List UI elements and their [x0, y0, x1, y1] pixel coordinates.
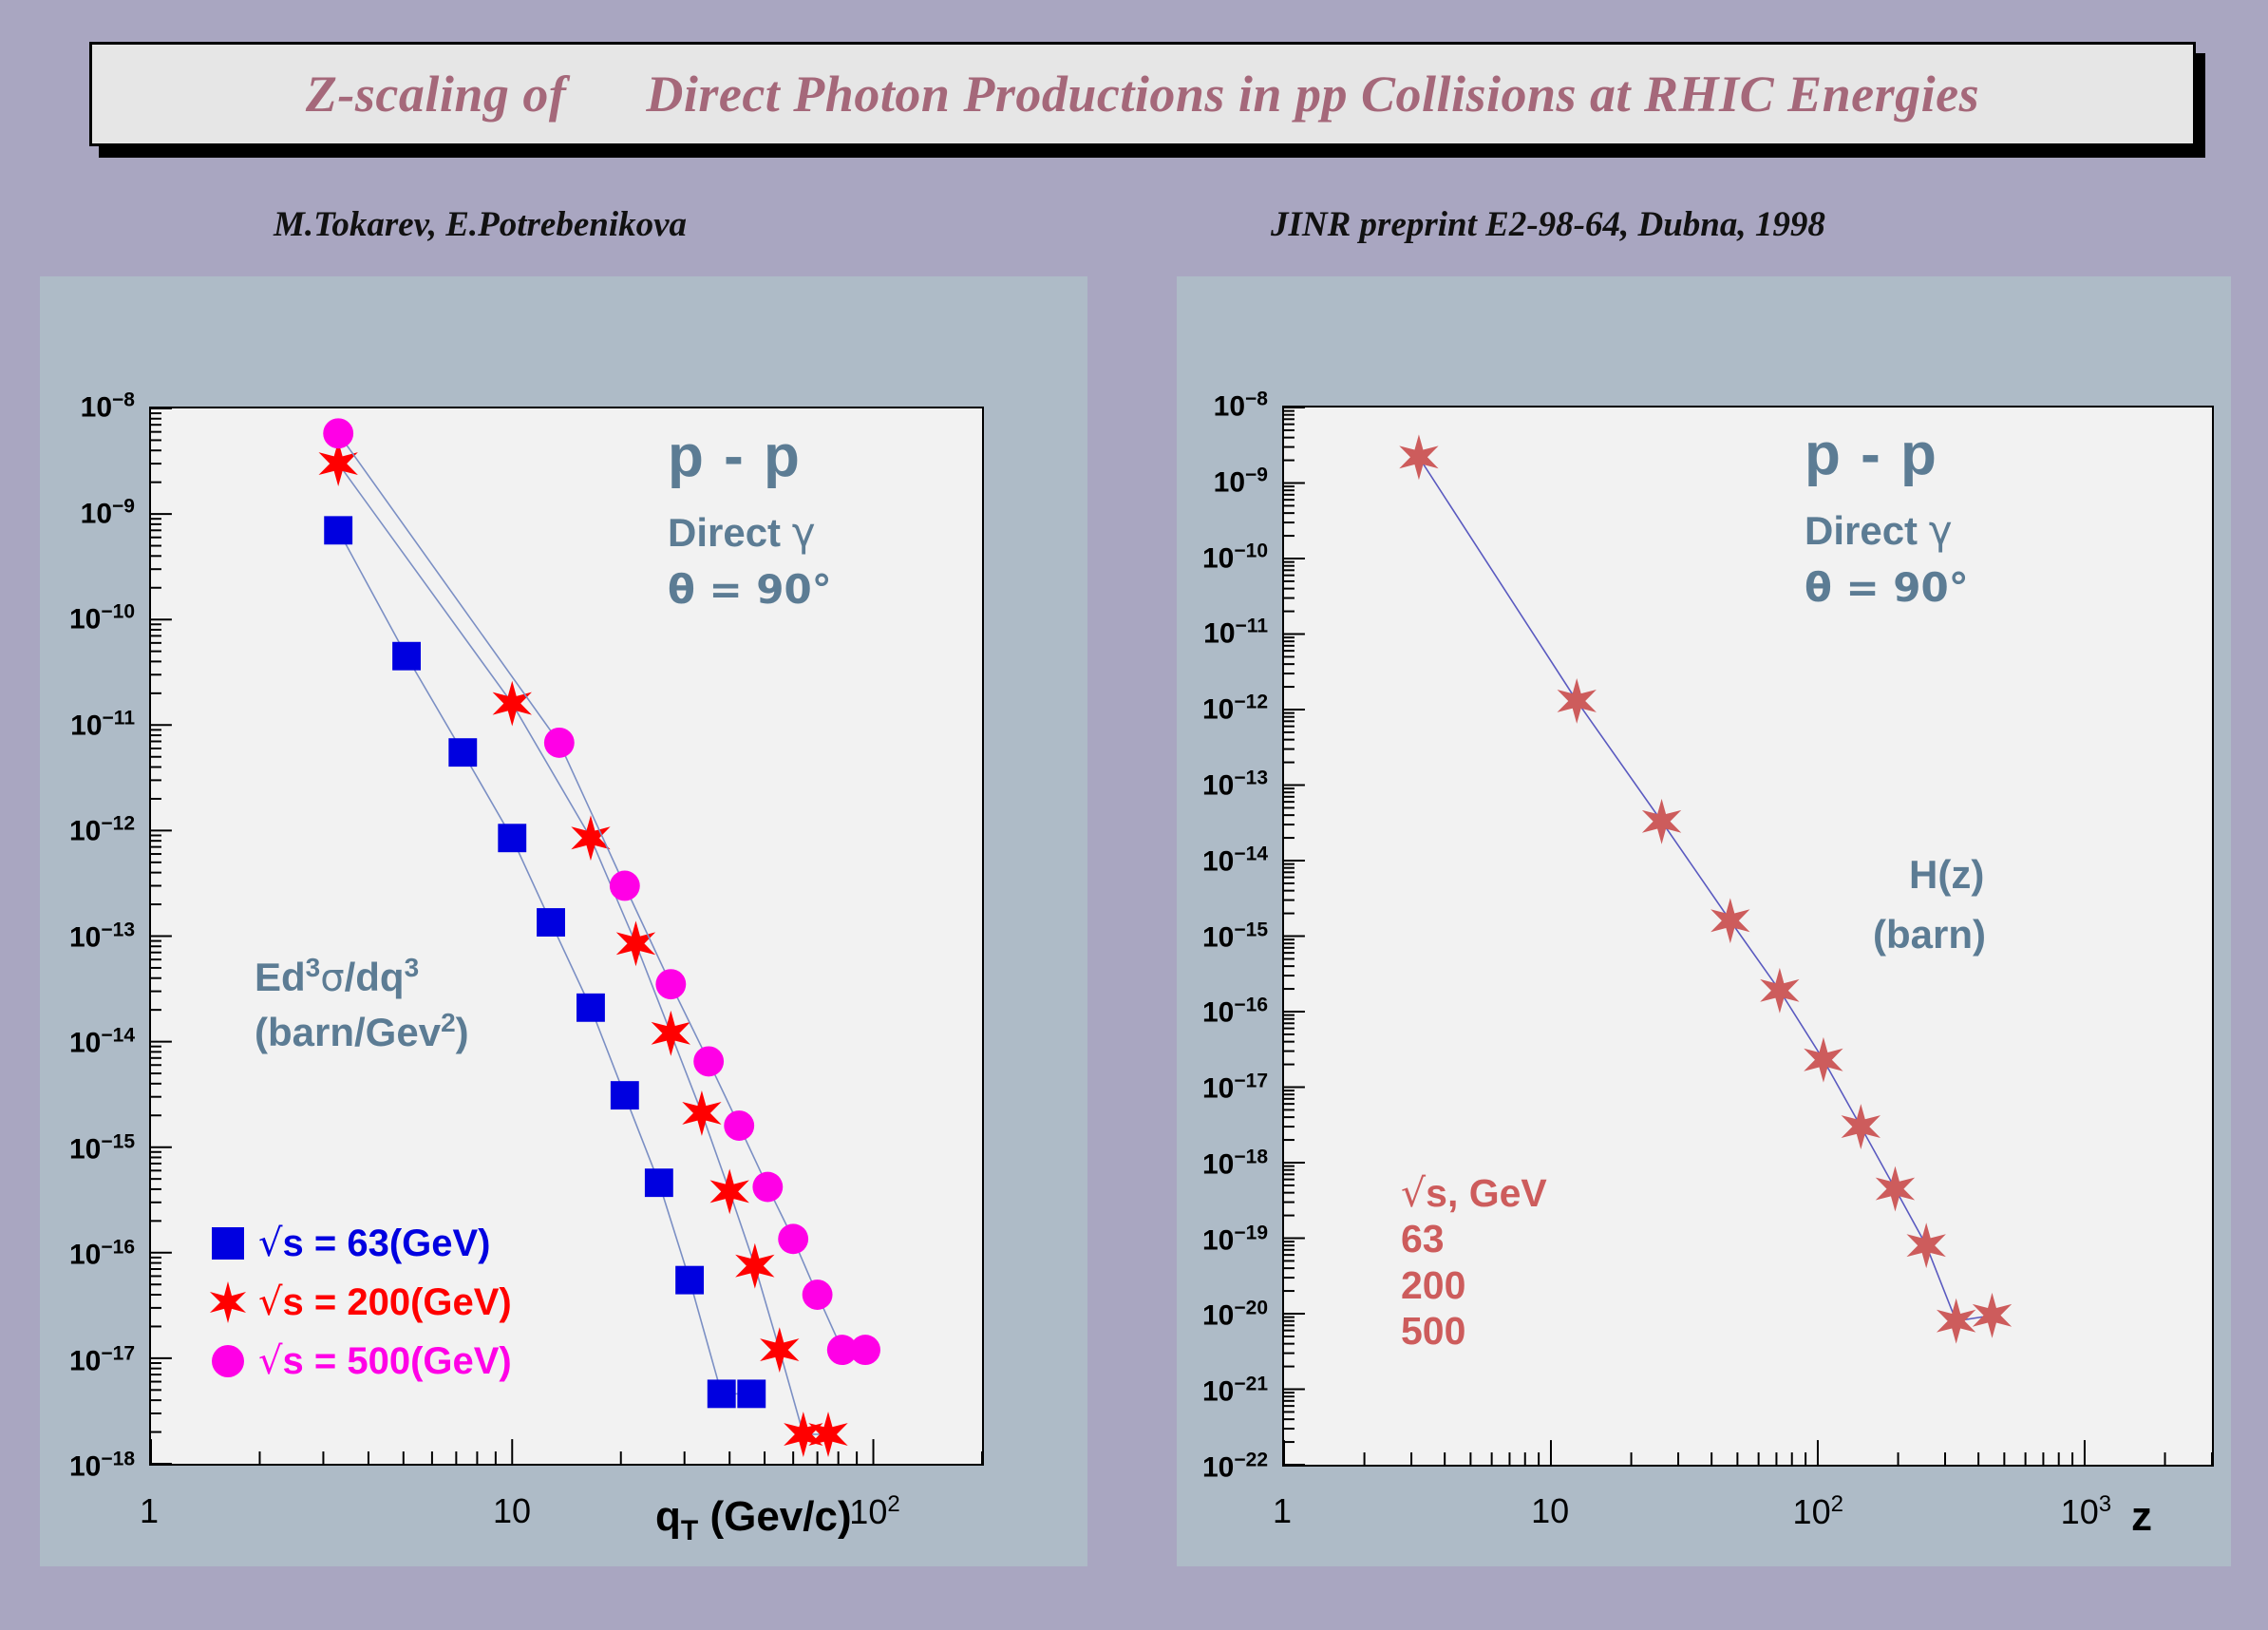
x-tick-label: 103 [2061, 1491, 2111, 1532]
legend-item-label: √s = 63(GeV) [258, 1222, 491, 1265]
reference-line: JINR preprint E2-98-64, Dubna, 1998 [1271, 204, 1825, 245]
x-tick-label: 10 [1531, 1491, 1569, 1531]
title-box: Z-scaling of Direct Photon Productions i… [89, 42, 2196, 146]
y-tick-label: 10−18 [2, 1449, 135, 1484]
right-x-axis-title: z [2131, 1493, 2152, 1541]
right-annotation-process-text: Direct [1805, 508, 1918, 553]
x-tick-label: 10 [493, 1491, 531, 1531]
x-tick-label: 1 [1273, 1491, 1292, 1531]
left-annotation-angle: θ = 90° [668, 570, 832, 610]
authors-line: M.Tokarev, E.Potrebenikova [274, 204, 687, 245]
y-tick-label: 10−19 [1135, 1222, 1268, 1257]
circle-marker-icon [198, 1345, 258, 1377]
right-y-axis-title-line1: H(z) [1909, 855, 1984, 895]
left-y-axis-title-line2: (barn/Gev2) [255, 1005, 469, 1060]
x-tick-label: 102 [849, 1491, 899, 1532]
y-tick-label: 10−15 [2, 1130, 135, 1166]
y-tick-label: 10−13 [2, 919, 135, 954]
energy-list-item: 200 [1401, 1262, 1547, 1308]
right-y-axis-title-line2: (barn) [1873, 915, 1986, 955]
gamma-icon: γ [792, 509, 816, 556]
left-annotation-process-text: Direct [668, 510, 781, 555]
y-tick-label: 10−12 [1135, 692, 1268, 727]
page-title: Z-scaling of Direct Photon Productions i… [92, 65, 2193, 123]
y-tick-label: 10−21 [1135, 1374, 1268, 1409]
left-annotation-system: p - p [668, 427, 802, 486]
y-tick-label: 10−14 [1135, 843, 1268, 878]
y-tick-label: 10−18 [1135, 1146, 1268, 1181]
left-y-axis-title-line1: Ed3σ/dq3 [255, 950, 469, 1005]
right-plot-energy-list: √s, GeV63200500 [1401, 1170, 1547, 1355]
y-tick-label: 10−17 [2, 1342, 135, 1377]
legend-item-label: √s = 200(GeV) [258, 1280, 512, 1324]
y-tick-label: 10−8 [2, 389, 135, 425]
square-marker-icon [198, 1227, 258, 1260]
y-tick-label: 10−8 [1135, 389, 1268, 424]
energy-list-item: 63 [1401, 1216, 1547, 1261]
y-tick-label: 10−12 [2, 813, 135, 848]
right-annotation-angle: θ = 90° [1805, 568, 1969, 608]
y-tick-label: 10−10 [2, 601, 135, 636]
y-tick-label: 10−15 [1135, 919, 1268, 954]
left-y-axis-title: Ed3σ/dq3 (barn/Gev2) [255, 950, 469, 1059]
energy-list-item: 500 [1401, 1308, 1547, 1354]
left-x-axis-title: qT (Gev/c) [655, 1493, 852, 1547]
y-tick-label: 10−14 [2, 1025, 135, 1060]
x-tick-label: 1 [140, 1491, 159, 1531]
right-annotation-system: p - p [1805, 426, 1938, 484]
left-plot-legend: √s = 63(GeV)√s = 200(GeV)√s = 500(GeV) [198, 1214, 512, 1391]
star-marker-icon [198, 1280, 258, 1324]
y-tick-label: 10−16 [2, 1237, 135, 1272]
y-tick-label: 10−17 [1135, 1071, 1268, 1106]
legend-item-label: √s = 500(GeV) [258, 1339, 512, 1383]
legend-item[interactable]: √s = 500(GeV) [198, 1332, 512, 1391]
x-tick-label: 102 [1793, 1491, 1843, 1532]
y-tick-label: 10−9 [2, 495, 135, 530]
y-tick-label: 10−9 [1135, 464, 1268, 499]
right-annotation-process: Direct γ [1805, 511, 1953, 551]
gamma-icon: γ [1929, 507, 1953, 554]
energy-list-header: √s, GeV [1401, 1170, 1547, 1216]
y-tick-label: 10−11 [2, 707, 135, 742]
y-tick-label: 10−16 [1135, 995, 1268, 1030]
legend-item[interactable]: √s = 200(GeV) [198, 1273, 512, 1332]
y-tick-label: 10−11 [1135, 616, 1268, 651]
y-tick-label: 10−10 [1135, 540, 1268, 575]
y-tick-label: 10−13 [1135, 767, 1268, 802]
left-annotation-process: Direct γ [668, 513, 816, 553]
y-tick-label: 10−22 [1135, 1450, 1268, 1485]
legend-item[interactable]: √s = 63(GeV) [198, 1214, 512, 1273]
y-tick-label: 10−20 [1135, 1298, 1268, 1333]
